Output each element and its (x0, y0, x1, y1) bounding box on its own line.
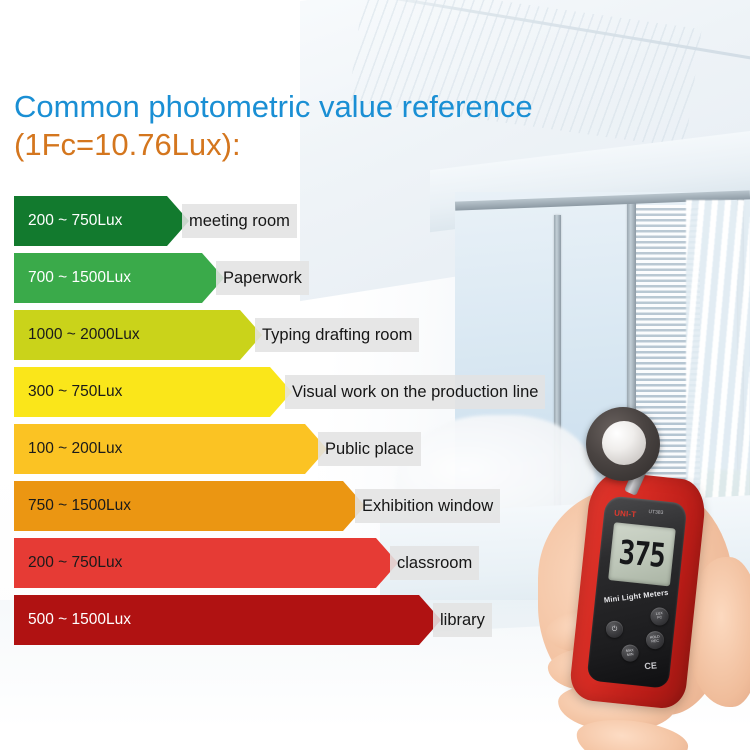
application-label: Visual work on the production line (285, 375, 545, 409)
lcd-reading: 375 (617, 534, 666, 575)
ce-mark: CE (644, 660, 657, 671)
lux-range-arrow: 500 ~ 1500Lux (14, 595, 441, 645)
title-line-conversion: (1Fc=10.76Lux): (14, 126, 694, 164)
lcd-screen: 375 (608, 522, 676, 586)
lux-range-arrow: 750 ~ 1500Lux (14, 481, 365, 531)
application-label: classroom (390, 546, 479, 580)
lux-range-arrow: 200 ~ 750Lux (14, 538, 398, 588)
lux-fc-button[interactable]: LUXFC (650, 607, 670, 627)
lux-range-arrow: 1000 ~ 2000Lux (14, 310, 262, 360)
application-label: Typing drafting room (255, 318, 419, 352)
lux-reference-row: 1000 ~ 2000LuxTyping drafting room (0, 310, 750, 367)
max-min-button[interactable]: MAXMIN (621, 644, 640, 663)
application-label: library (433, 603, 492, 637)
lux-reference-row: 200 ~ 750Luxmeeting room (0, 196, 750, 253)
brand-logo: UNI-T (614, 509, 637, 520)
product-infographic: Common photometric value reference (1Fc=… (0, 0, 750, 750)
lux-range-arrow: 200 ~ 750Lux (14, 196, 189, 246)
lux-range-arrow: 700 ~ 1500Lux (14, 253, 224, 303)
lux-range-arrow: 100 ~ 200Lux (14, 424, 327, 474)
lux-reference-row: 700 ~ 1500LuxPaperwork (0, 253, 750, 310)
application-label: Public place (318, 432, 421, 466)
application-label: Paperwork (216, 261, 309, 295)
application-label: Exhibition window (355, 489, 500, 523)
light-sensor-head (586, 407, 660, 481)
application-label: meeting room (182, 204, 297, 238)
sensor-diffuser-dome (602, 421, 646, 465)
lux-range-arrow: 300 ~ 750Lux (14, 367, 292, 417)
page-title: Common photometric value reference (1Fc=… (14, 88, 694, 164)
title-line-primary: Common photometric value reference (14, 88, 694, 126)
model-number: UT383 (648, 509, 663, 516)
power-button[interactable]: ⏻ (605, 620, 624, 639)
hold-rec-button[interactable]: HOLDREC (645, 630, 665, 650)
light-meter-device-photo: UNI-T UT383 375 Mini Light Meters ⏻ LUXF… (520, 415, 750, 715)
product-name-label: Mini Light Meters (603, 587, 676, 605)
